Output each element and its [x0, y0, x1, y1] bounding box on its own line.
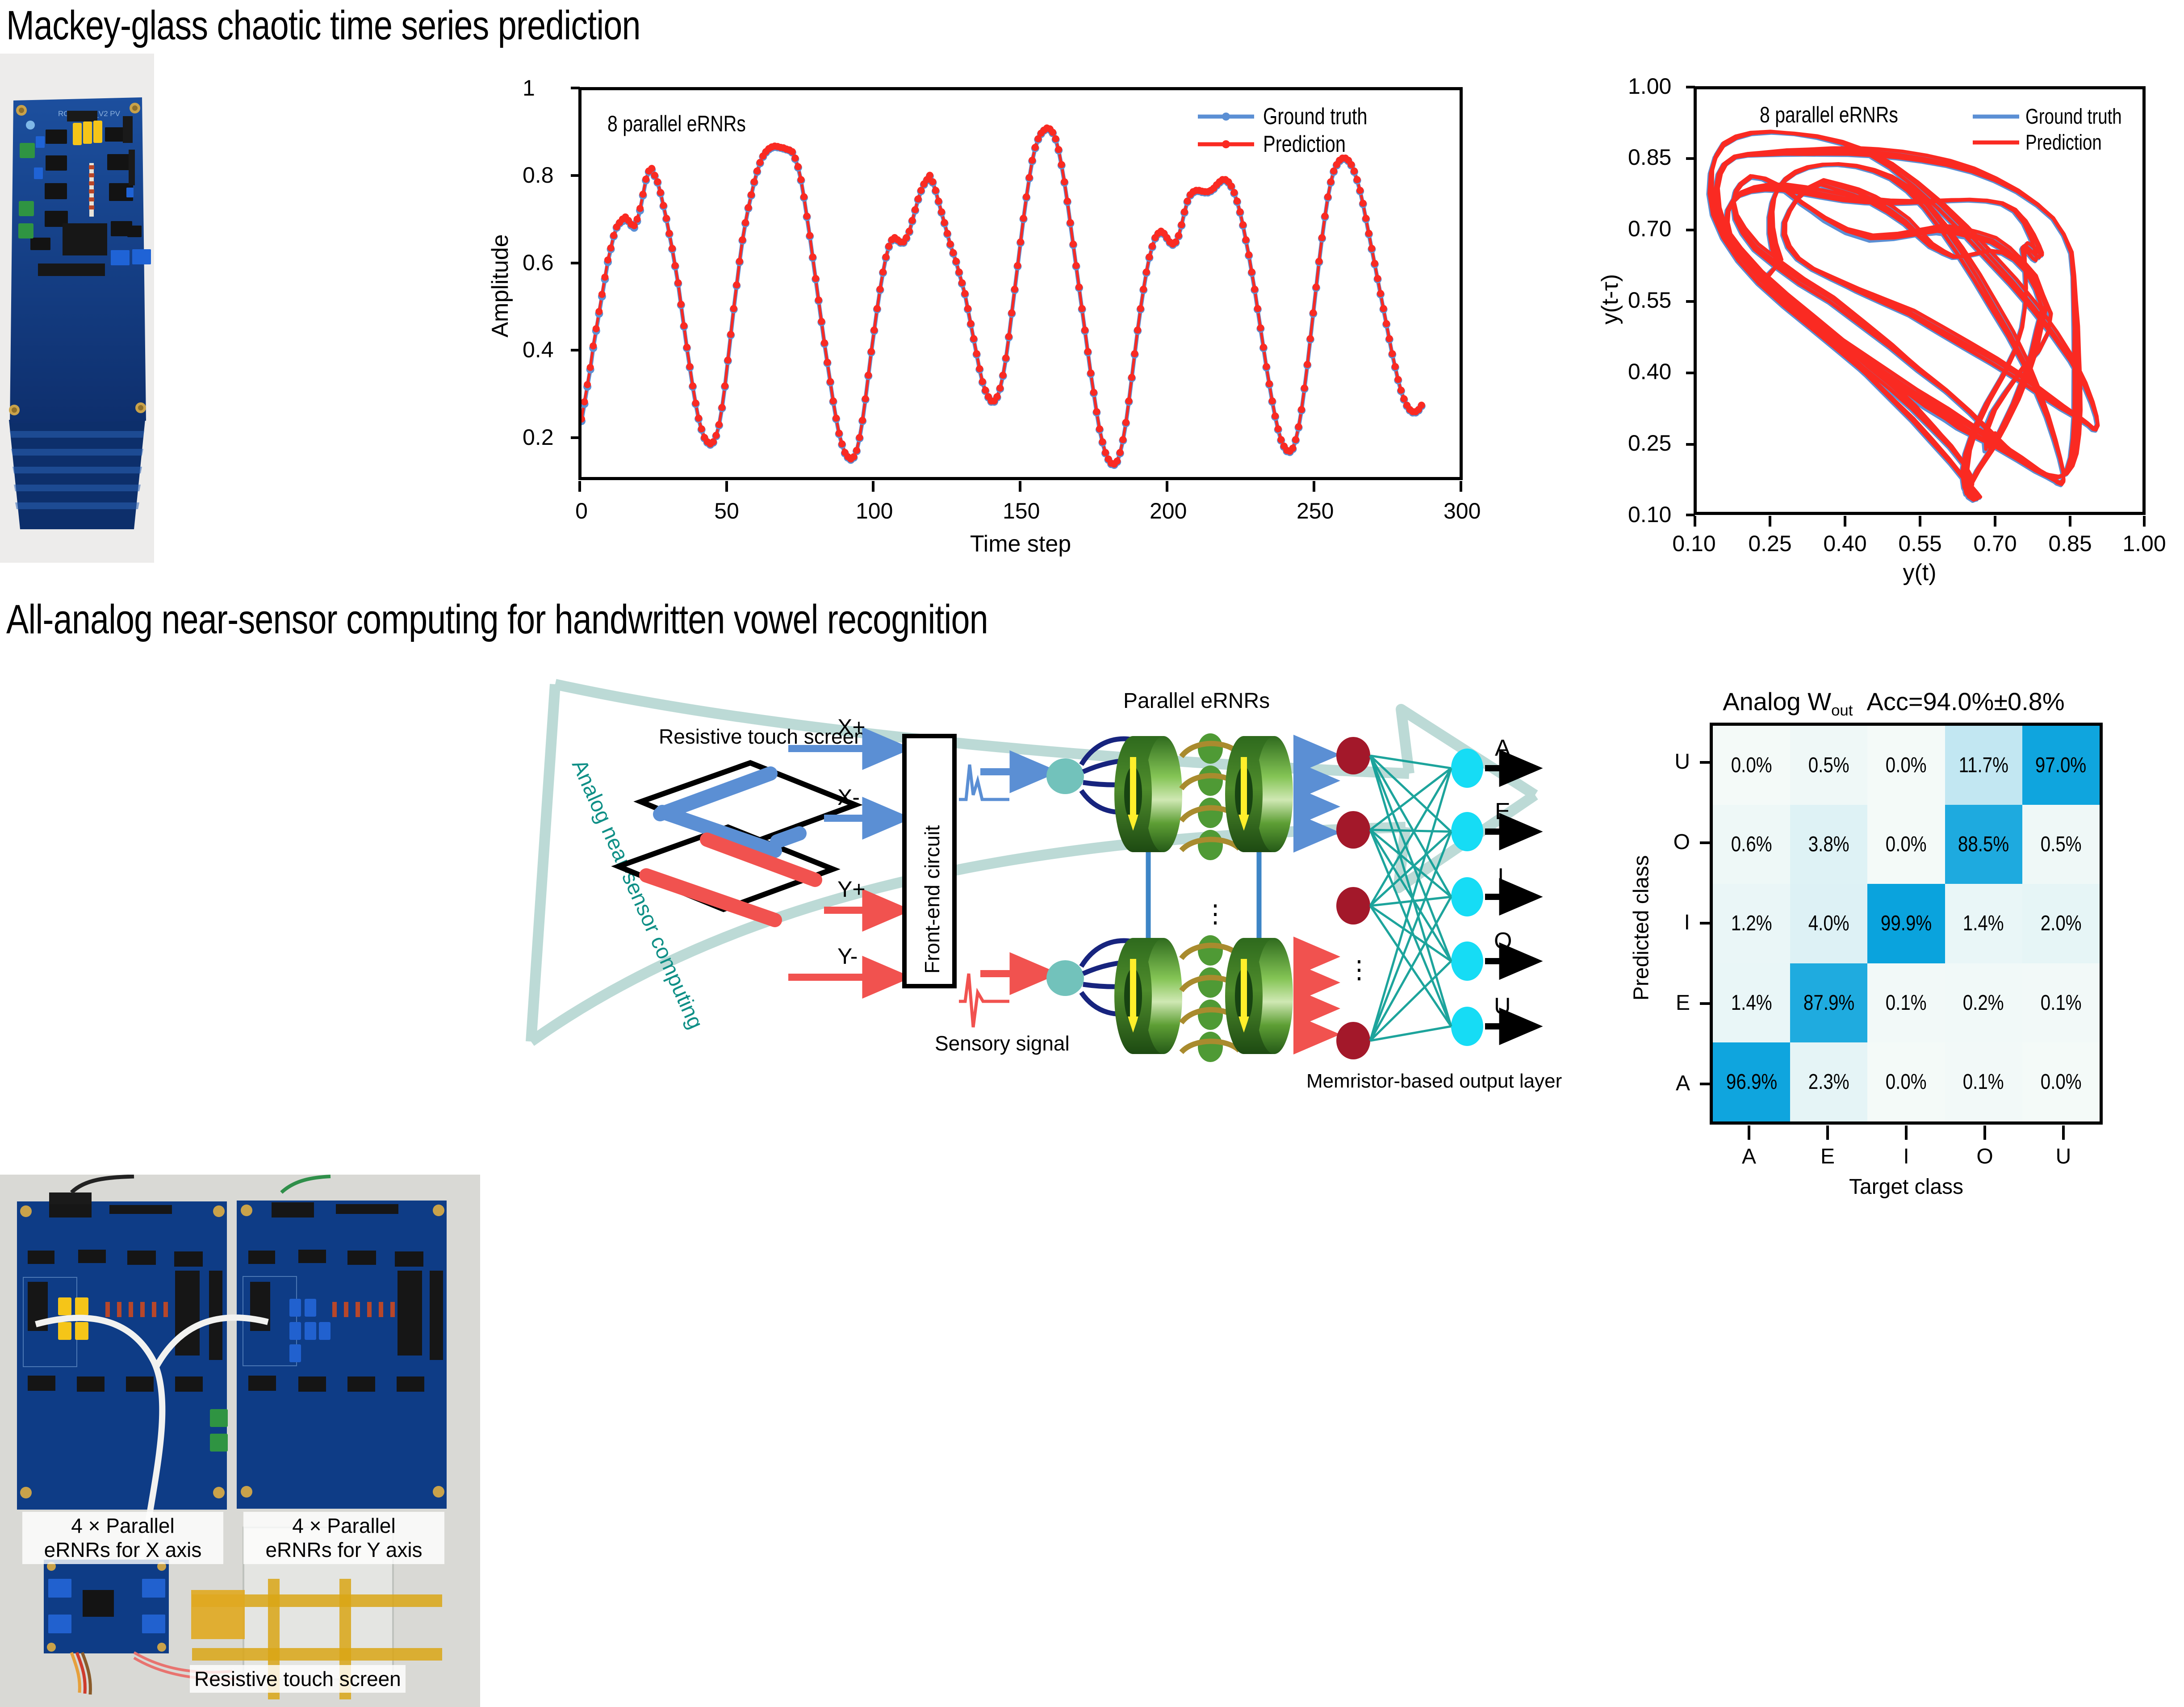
cm-cell-I-E: 4.0% — [1790, 884, 1867, 963]
phase-portrait-chart: 1.00 0.85 0.70 0.55 0.40 0.25 0.10 y(t-τ… — [1590, 63, 2184, 572]
cm-cell-E-E: 87.9% — [1790, 963, 1867, 1042]
cm-cell-O-I: 0.0% — [1867, 805, 1945, 884]
cm-cell-O-E: 3.8% — [1790, 805, 1867, 884]
ytick-0.8: 0.8 — [523, 162, 554, 188]
output-class-O: O — [1494, 928, 1512, 954]
ytick-1.0: 1 — [523, 75, 535, 101]
pp-xtick-0.10: 0.10 — [1669, 531, 1719, 556]
legend-label-prediction: Prediction — [1263, 131, 1346, 158]
cm-row-ticks — [1692, 719, 1713, 1128]
reservoir-ring-3 — [1114, 938, 1182, 1054]
phase-portrait-xlabel: y(t) — [1830, 559, 2009, 586]
cm-cell-O-O: 88.5% — [1945, 805, 2022, 884]
touch-screen-diagram — [619, 763, 855, 920]
pp-ytick-0.70: 0.70 — [1628, 216, 1671, 242]
cm-cell-E-A: 1.4% — [1713, 963, 1790, 1042]
pp-legend-swatch-prediction — [1972, 138, 2020, 147]
label-x-axis-line2: eRNRs for X axis — [27, 1538, 219, 1562]
output-class-E: E — [1495, 799, 1510, 824]
cm-title-subscript: out — [1831, 702, 1853, 719]
cm-title-prefix: Analog W — [1723, 687, 1831, 715]
cm-cell-A-I: 0.0% — [1867, 1042, 1945, 1121]
cm-rowlabel-E: E — [1665, 991, 1690, 1015]
pp-xtick-marks — [1694, 515, 2149, 530]
cm-cell-E-O: 0.2% — [1945, 963, 2022, 1042]
legend-swatch-prediction — [1197, 138, 1255, 151]
phase-portrait-legend: Ground truth Prediction — [1972, 104, 2146, 155]
xtick-50: 50 — [713, 498, 740, 524]
cm-title-accuracy: Acc=94.0%±0.8% — [1866, 687, 2064, 715]
pp-xtick-1.00: 1.00 — [2120, 531, 2169, 556]
setup-illustration — [0, 1175, 480, 1707]
touch-screen-label: Resistive touch screen — [659, 725, 866, 748]
label-y-axis-line2: eRNRs for Y axis — [248, 1538, 440, 1562]
label-x-axis-boards: 4 × Parallel eRNRs for X axis — [22, 1512, 223, 1564]
label-resistive-touch-screen: Resistive touch screen — [190, 1665, 406, 1693]
electrode-label-y-plus: Y+ — [837, 877, 866, 902]
label-y-axis-boards: 4 × Parallel eRNRs for Y axis — [243, 1512, 444, 1564]
cm-collabel-E: E — [1810, 1144, 1845, 1169]
legend-swatch-ground-truth — [1197, 110, 1255, 123]
reservoir-ring-2 — [1225, 736, 1293, 852]
pcb-stack-photo: RC_8_1_0_V2 PV — [0, 54, 154, 563]
reservoir-state-nodes — [1336, 737, 1370, 1059]
cm-cell-O-U: 0.5% — [2022, 805, 2100, 884]
state-nodes-ellipsis: ⋮ — [1347, 955, 1372, 983]
electrode-label-y-minus: Y- — [837, 944, 858, 969]
ytick-marks — [567, 63, 581, 491]
reservoir-vertical-ellipsis: ⋮ — [1203, 900, 1228, 928]
phase-portrait-ylabel: y(t-τ) — [1597, 223, 1623, 375]
ytick-0.2: 0.2 — [523, 424, 554, 450]
confusion-matrix: Analog Wout Acc=94.0%±0.8% 0.0%0.5%0.0%1… — [1608, 665, 2184, 1198]
pp-legend-entry-prediction: Prediction — [1972, 130, 2146, 155]
output-nodes — [1451, 749, 1483, 1046]
pp-xtick-0.25: 0.25 — [1745, 531, 1795, 556]
pp-ytick-0.55: 0.55 — [1628, 287, 1671, 313]
cm-cell-U-A: 0.0% — [1713, 726, 1790, 805]
cm-cell-U-I: 0.0% — [1867, 726, 1945, 805]
front-end-circuit-label: Front-end circuit — [920, 825, 944, 974]
electrode-label-x-plus: X+ — [837, 715, 866, 740]
cm-rowlabel-U: U — [1665, 749, 1690, 774]
reservoir-ring-1 — [1114, 736, 1182, 852]
ytick-0.6: 0.6 — [523, 250, 554, 276]
reservoir-lower — [1046, 935, 1331, 1062]
xtick-200: 200 — [1150, 498, 1184, 524]
sensory-signal-label: Sensory signal — [935, 1032, 1070, 1055]
pp-ytick-marks — [1682, 63, 1696, 527]
pp-ytick-0.40: 0.40 — [1628, 359, 1671, 385]
timeseries-annotation: 8 parallel eRNRs — [607, 111, 746, 137]
pp-ytick-0.10: 0.10 — [1628, 502, 1671, 527]
electrode-label-x-minus: X- — [837, 785, 860, 810]
cm-collabel-A: A — [1731, 1144, 1767, 1169]
parallel-ernrs-label: Parallel eRNRs — [1123, 689, 1270, 713]
timeseries-xlabel: Time step — [931, 531, 1110, 557]
near-sensor-setup-photo: 4 × Parallel eRNRs for X axis 4 × Parall… — [0, 1175, 480, 1707]
legend-entry-ground-truth: Ground truth — [1197, 103, 1393, 130]
section-title-mackey-glass: Mackey-glass chaotic time series predict… — [6, 2, 640, 49]
xtick-marks — [578, 480, 1467, 495]
label-x-axis-line1: 4 × Parallel — [27, 1514, 219, 1538]
confusion-matrix-grid: 0.0%0.5%0.0%11.7%97.0%0.6%3.8%0.0%88.5%0… — [1710, 723, 2103, 1125]
cm-cell-A-U: 0.0% — [2022, 1042, 2100, 1121]
pp-legend-swatch-ground-truth — [1972, 112, 2020, 121]
confusion-matrix-ylabel: Predicted class — [1629, 834, 1654, 1022]
cm-rowlabel-I: I — [1665, 910, 1690, 935]
pp-xtick-0.70: 0.70 — [1971, 531, 2020, 556]
cm-cell-U-U: 97.0% — [2022, 726, 2100, 805]
cm-cell-I-A: 1.2% — [1713, 884, 1790, 963]
legend-label-ground-truth: Ground truth — [1263, 103, 1368, 130]
schematic-svg: Analog near-sensor computing Resistive t… — [485, 661, 1565, 1197]
output-layer-label: Memristor-based output layer — [1306, 1070, 1562, 1092]
cm-cell-A-A: 96.9% — [1713, 1042, 1790, 1121]
phase-portrait-annotation: 8 parallel eRNRs — [1760, 102, 1898, 128]
cm-cell-A-E: 2.3% — [1790, 1042, 1867, 1121]
output-class-U: U — [1494, 993, 1511, 1019]
cm-cell-O-A: 0.6% — [1713, 805, 1790, 884]
cm-rowlabel-A: A — [1665, 1071, 1690, 1096]
cm-cell-E-I: 0.1% — [1867, 963, 1945, 1042]
cm-cell-I-O: 1.4% — [1945, 884, 2022, 963]
xtick-100: 100 — [856, 498, 891, 524]
xtick-300: 300 — [1443, 498, 1478, 524]
cm-rowlabel-O: O — [1665, 830, 1690, 854]
pp-legend-label-prediction: Prediction — [2025, 130, 2102, 155]
xtick-250: 250 — [1297, 498, 1331, 524]
pcb-stack-illustration: RC_8_1_0_V2 PV — [0, 54, 154, 563]
output-class-A: A — [1495, 735, 1510, 761]
output-class-I: I — [1498, 864, 1504, 890]
cm-cell-I-U: 2.0% — [2022, 884, 2100, 963]
reservoir-ring-4 — [1225, 938, 1293, 1054]
cm-collabel-U: U — [2046, 1144, 2081, 1169]
pp-ytick-0.85: 0.85 — [1628, 144, 1671, 170]
timeseries-ylabel: Amplitude — [487, 197, 514, 375]
near-sensor-schematic: Analog near-sensor computing Resistive t… — [485, 661, 1565, 1197]
pp-xtick-0.85: 0.85 — [2046, 531, 2095, 556]
pp-legend-entry-ground-truth: Ground truth — [1972, 104, 2146, 130]
xtick-0: 0 — [573, 498, 590, 524]
pp-xtick-0.40: 0.40 — [1820, 531, 1870, 556]
timeseries-chart: 1 0.8 0.6 0.4 0.2 Amplitude 0 50 100 150… — [473, 63, 1483, 572]
confusion-matrix-title: Analog Wout Acc=94.0%±0.8% — [1688, 687, 2099, 720]
pp-ytick-0.25: 0.25 — [1628, 430, 1671, 456]
ytick-0.4: 0.4 — [523, 337, 554, 363]
cm-collabel-I: I — [1888, 1144, 1924, 1169]
timeseries-legend: Ground truth Prediction — [1197, 103, 1393, 158]
pp-xtick-0.55: 0.55 — [1895, 531, 1945, 556]
pp-legend-label-ground-truth: Ground truth — [2025, 105, 2122, 129]
cm-cell-A-O: 0.1% — [1945, 1042, 2022, 1121]
cm-cell-U-E: 0.5% — [1790, 726, 1867, 805]
cm-cell-I-I: 99.9% — [1867, 884, 1945, 963]
cm-col-ticks — [1710, 1125, 2105, 1145]
label-y-axis-line1: 4 × Parallel — [248, 1514, 440, 1538]
section-title-near-sensor: All-analog near-sensor computing for han… — [6, 596, 988, 643]
confusion-matrix-xlabel: Target class — [1817, 1175, 1996, 1199]
pp-ytick-1.00: 1.00 — [1628, 73, 1671, 99]
cm-collabel-O: O — [1967, 1144, 2003, 1169]
legend-entry-prediction: Prediction — [1197, 130, 1393, 158]
xtick-150: 150 — [1003, 498, 1038, 524]
cm-cell-U-O: 11.7% — [1945, 726, 2022, 805]
cm-cell-E-U: 0.1% — [2022, 963, 2100, 1042]
